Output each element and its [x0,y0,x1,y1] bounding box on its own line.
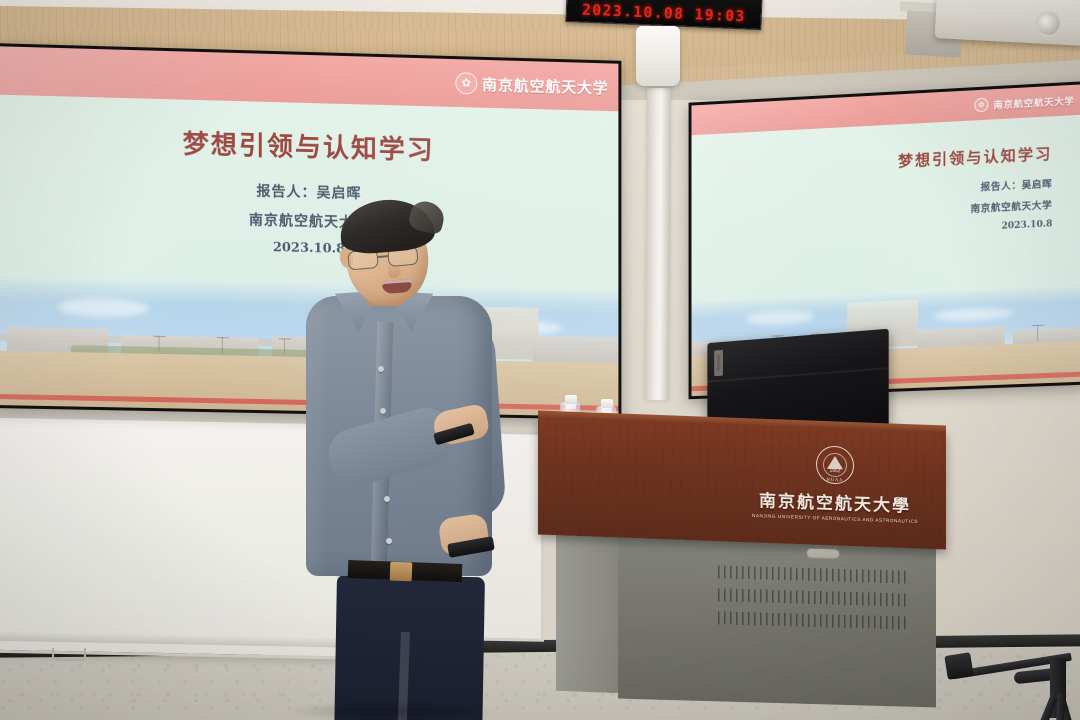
shirt-button [380,408,386,414]
university-logo-text: 南京航空航天大学 [994,93,1075,110]
podium-university-emblem: 1952 NUAA 南京航空航天大學 NANJING UNIVERSITY OF… [752,443,918,543]
camera-pole [645,88,671,400]
camera-tripod [944,648,1080,720]
university-seal-icon: ✿ [455,72,477,95]
university-logo-secondary: ✿ 南京航空航天大学 [974,93,1074,112]
slide-affiliation: 南京航空航天大学 [970,197,1052,215]
podium-vent-slots [718,565,908,638]
monitor-seam [707,368,888,384]
whiteboard-hook-icon [52,648,86,661]
podium-emblem-chinese: 南京航空航天大學 [759,486,911,517]
bottle-cap-icon [601,399,613,408]
podium-side-panel [556,531,622,694]
shirt-button [386,538,392,544]
bottle-cap-icon [565,395,577,404]
seal-pagoda-icon [827,456,843,470]
presenter-floor-shadow [286,700,496,720]
slide-title: 梦想引领与认知学习 [898,143,1052,172]
shirt-button [378,366,384,372]
podium-drawer-handle[interactable] [806,548,840,560]
glasses-bridge [378,255,388,257]
ptz-camera [636,26,680,86]
presenter-belt-buckle [390,562,413,582]
tripod-head [944,652,973,680]
slide-title: 梦想引领与认知学习 [183,124,435,167]
ceiling-projector [935,0,1080,46]
university-logo: ✿ 南京航空航天大学 [455,72,608,98]
slide-date: 2023.10.8 [1002,219,1053,231]
monitor-brand-label: lenovo [714,350,723,376]
slide-speaker: 报告人：吴启晖 [981,176,1053,194]
projector-lens-icon [1035,10,1062,37]
presenter [262,196,530,720]
university-seal-icon: ✿ [974,98,988,113]
lecture-hall-scene: 2023.10.08 19:03 ✿ 南京航空航天大学 梦想引领与 [0,0,1080,720]
shirt-button [384,496,390,502]
university-logo-text: 南京航空航天大学 [482,73,608,97]
seal-abbr: NUAA [827,477,844,483]
led-clock-text: 2023.10.08 19:03 [582,1,746,26]
podium-seal-icon: 1952 NUAA [816,445,854,484]
